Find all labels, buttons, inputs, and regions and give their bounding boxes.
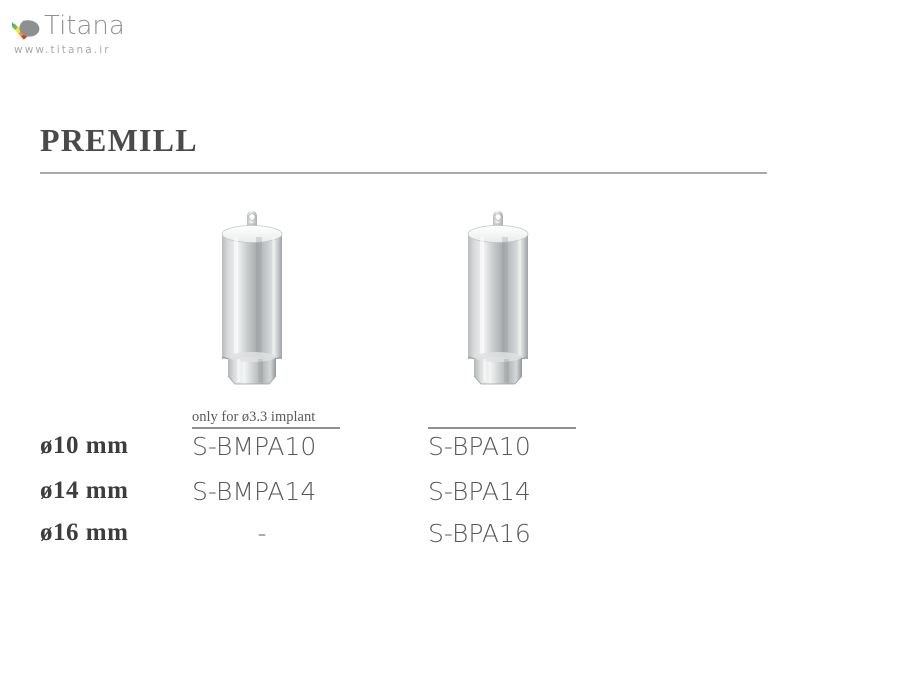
row-label-1: ø14 mm	[40, 477, 128, 505]
titana-logo-mark-icon	[12, 11, 42, 41]
column-header-note-1: only for ø3.3 implant	[192, 409, 315, 426]
product-image-1	[220, 207, 284, 387]
table-cell-0-1: S-BMPA10	[192, 432, 316, 461]
table-cell-0-2: S-BPA10	[428, 432, 531, 461]
table-cell-2-1: -	[192, 519, 332, 548]
title-divider	[40, 172, 767, 174]
row-label-0: ø10 mm	[40, 432, 128, 460]
brand-url[interactable]: www.titana.ir	[14, 44, 212, 56]
brand-name: Titana	[44, 11, 125, 41]
row-label-2: ø16 mm	[40, 519, 128, 547]
table-cell-1-1: S-BMPA14	[192, 477, 316, 506]
logo-row: Titana	[12, 9, 212, 43]
product-image-2	[466, 207, 530, 387]
table-cell-2-2: S-BPA16	[428, 519, 531, 548]
brand-logo[interactable]: Titana www.titana.ir	[12, 9, 212, 61]
page-title: PREMILL	[40, 122, 198, 159]
table-cell-1-2: S-BPA14	[428, 477, 531, 506]
column-rule-1	[192, 427, 340, 429]
column-rule-2	[428, 427, 576, 429]
